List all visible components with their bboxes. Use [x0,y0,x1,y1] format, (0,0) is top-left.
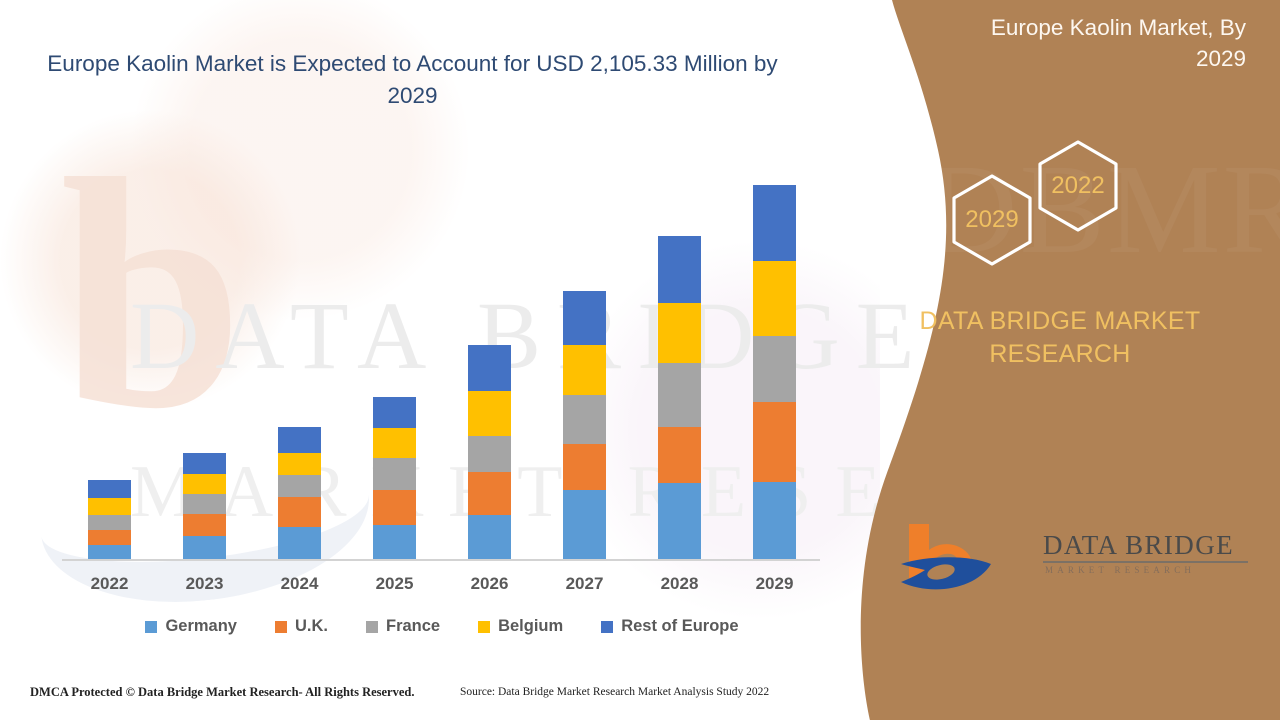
legend-swatch-icon [601,621,613,633]
bar-segment-germany [373,525,416,559]
x-tick-2026: 2026 [468,574,511,594]
bar-segment-germany [753,482,796,559]
legend-item-u-k: U.K. [275,617,328,636]
bar-segment-france [468,436,511,472]
legend-swatch-icon [275,621,287,633]
bar-segment-france [278,475,321,497]
bar-segment-u-k [658,427,701,483]
data-bridge-logo: DATA BRIDGE MARKET RESEARCH [895,520,1255,600]
footer-dmca-notice: DMCA Protected © Data Bridge Market Rese… [30,685,415,700]
bar-segment-germany [278,527,321,559]
legend-swatch-icon [366,621,378,633]
bar-segment-belgium [88,498,131,515]
x-axis-line [62,559,820,561]
bar-segment-rest-of-europe [183,453,226,474]
panel-title: Europe Kaolin Market, By 2029 [946,12,1246,74]
bar-segment-rest-of-europe [278,427,321,453]
bar-segment-rest-of-europe [563,291,606,345]
chart-screenshot: b DATA BRIDGE MARKET RESEARCH Europe Kao… [0,0,1280,720]
bar-segment-u-k [468,472,511,515]
chart-title: Europe Kaolin Market is Expected to Acco… [40,48,785,112]
bar-segment-u-k [278,497,321,527]
bar-segment-rest-of-europe [373,397,416,428]
bar-segment-germany [468,515,511,559]
hexagon-pair-icon: 2022 2029 [930,130,1160,290]
bar-2024 [278,427,321,559]
bar-2023 [183,453,226,559]
x-axis-labels: 20222023202420252026202720282029 [62,574,822,594]
bar-2028 [658,236,701,559]
bar-segment-france [753,336,796,402]
panel-brand-name: DATA BRIDGE MARKET RESEARCH [900,305,1220,371]
legend-item-germany: Germany [145,617,237,636]
bar-segment-france [183,494,226,514]
x-tick-2025: 2025 [373,574,416,594]
hexagon-badges: 2022 2029 [930,130,1160,290]
bar-2026 [468,345,511,559]
bar-segment-france [373,458,416,490]
legend-item-rest-of-europe: Rest of Europe [601,617,738,636]
bar-segment-belgium [753,261,796,336]
bar-segment-france [563,395,606,444]
logo-wordmark: DATA BRIDGE [1043,530,1234,561]
legend-swatch-icon [145,621,157,633]
x-tick-2027: 2027 [563,574,606,594]
bar-segment-germany [658,483,701,559]
bar-segment-belgium [278,453,321,475]
bar-2029 [753,185,796,559]
legend-item-belgium: Belgium [478,617,563,636]
hex-year-2029: 2029 [965,206,1018,233]
bar-segment-belgium [658,303,701,363]
x-tick-2022: 2022 [88,574,131,594]
bar-segment-u-k [183,514,226,536]
legend-label: U.K. [295,617,328,636]
x-tick-2028: 2028 [658,574,701,594]
x-tick-2029: 2029 [753,574,796,594]
legend-label: Belgium [498,617,563,636]
bar-segment-belgium [468,391,511,436]
bar-segment-germany [88,545,131,559]
logo-tagline: MARKET RESEARCH [1045,565,1195,575]
legend-label: Rest of Europe [621,617,738,636]
chart-legend: GermanyU.K.FranceBelgiumRest of Europe [62,617,822,636]
bar-segment-rest-of-europe [658,236,701,303]
legend-label: Germany [165,617,237,636]
x-tick-2024: 2024 [278,574,321,594]
bar-segment-rest-of-europe [88,480,131,498]
bar-segment-belgium [183,474,226,494]
bar-2022 [88,480,131,559]
logo-mark-icon [895,520,1035,598]
legend-item-france: France [366,617,440,636]
bar-segment-u-k [373,490,416,525]
bar-segment-u-k [563,444,606,490]
bar-segment-belgium [373,428,416,458]
bar-segment-germany [563,490,606,559]
bar-segment-belgium [563,345,606,395]
x-tick-2023: 2023 [183,574,226,594]
logo-underline [1043,561,1248,563]
bar-segment-u-k [753,402,796,482]
footer-source-note: Source: Data Bridge Market Research Mark… [460,686,769,698]
legend-swatch-icon [478,621,490,633]
hex-year-2022: 2022 [1051,172,1104,199]
bar-segment-france [88,515,131,530]
bar-segment-germany [183,536,226,559]
bar-segment-rest-of-europe [753,185,796,261]
legend-label: France [386,617,440,636]
bar-segment-u-k [88,530,131,545]
bar-2027 [563,291,606,559]
bar-segment-france [658,363,701,427]
stacked-bar-chart [62,170,822,559]
bar-segment-rest-of-europe [468,345,511,391]
bar-2025 [373,397,416,559]
branding-panel: DBMR Europe Kaolin Market, By 2029 2022 … [810,0,1280,720]
